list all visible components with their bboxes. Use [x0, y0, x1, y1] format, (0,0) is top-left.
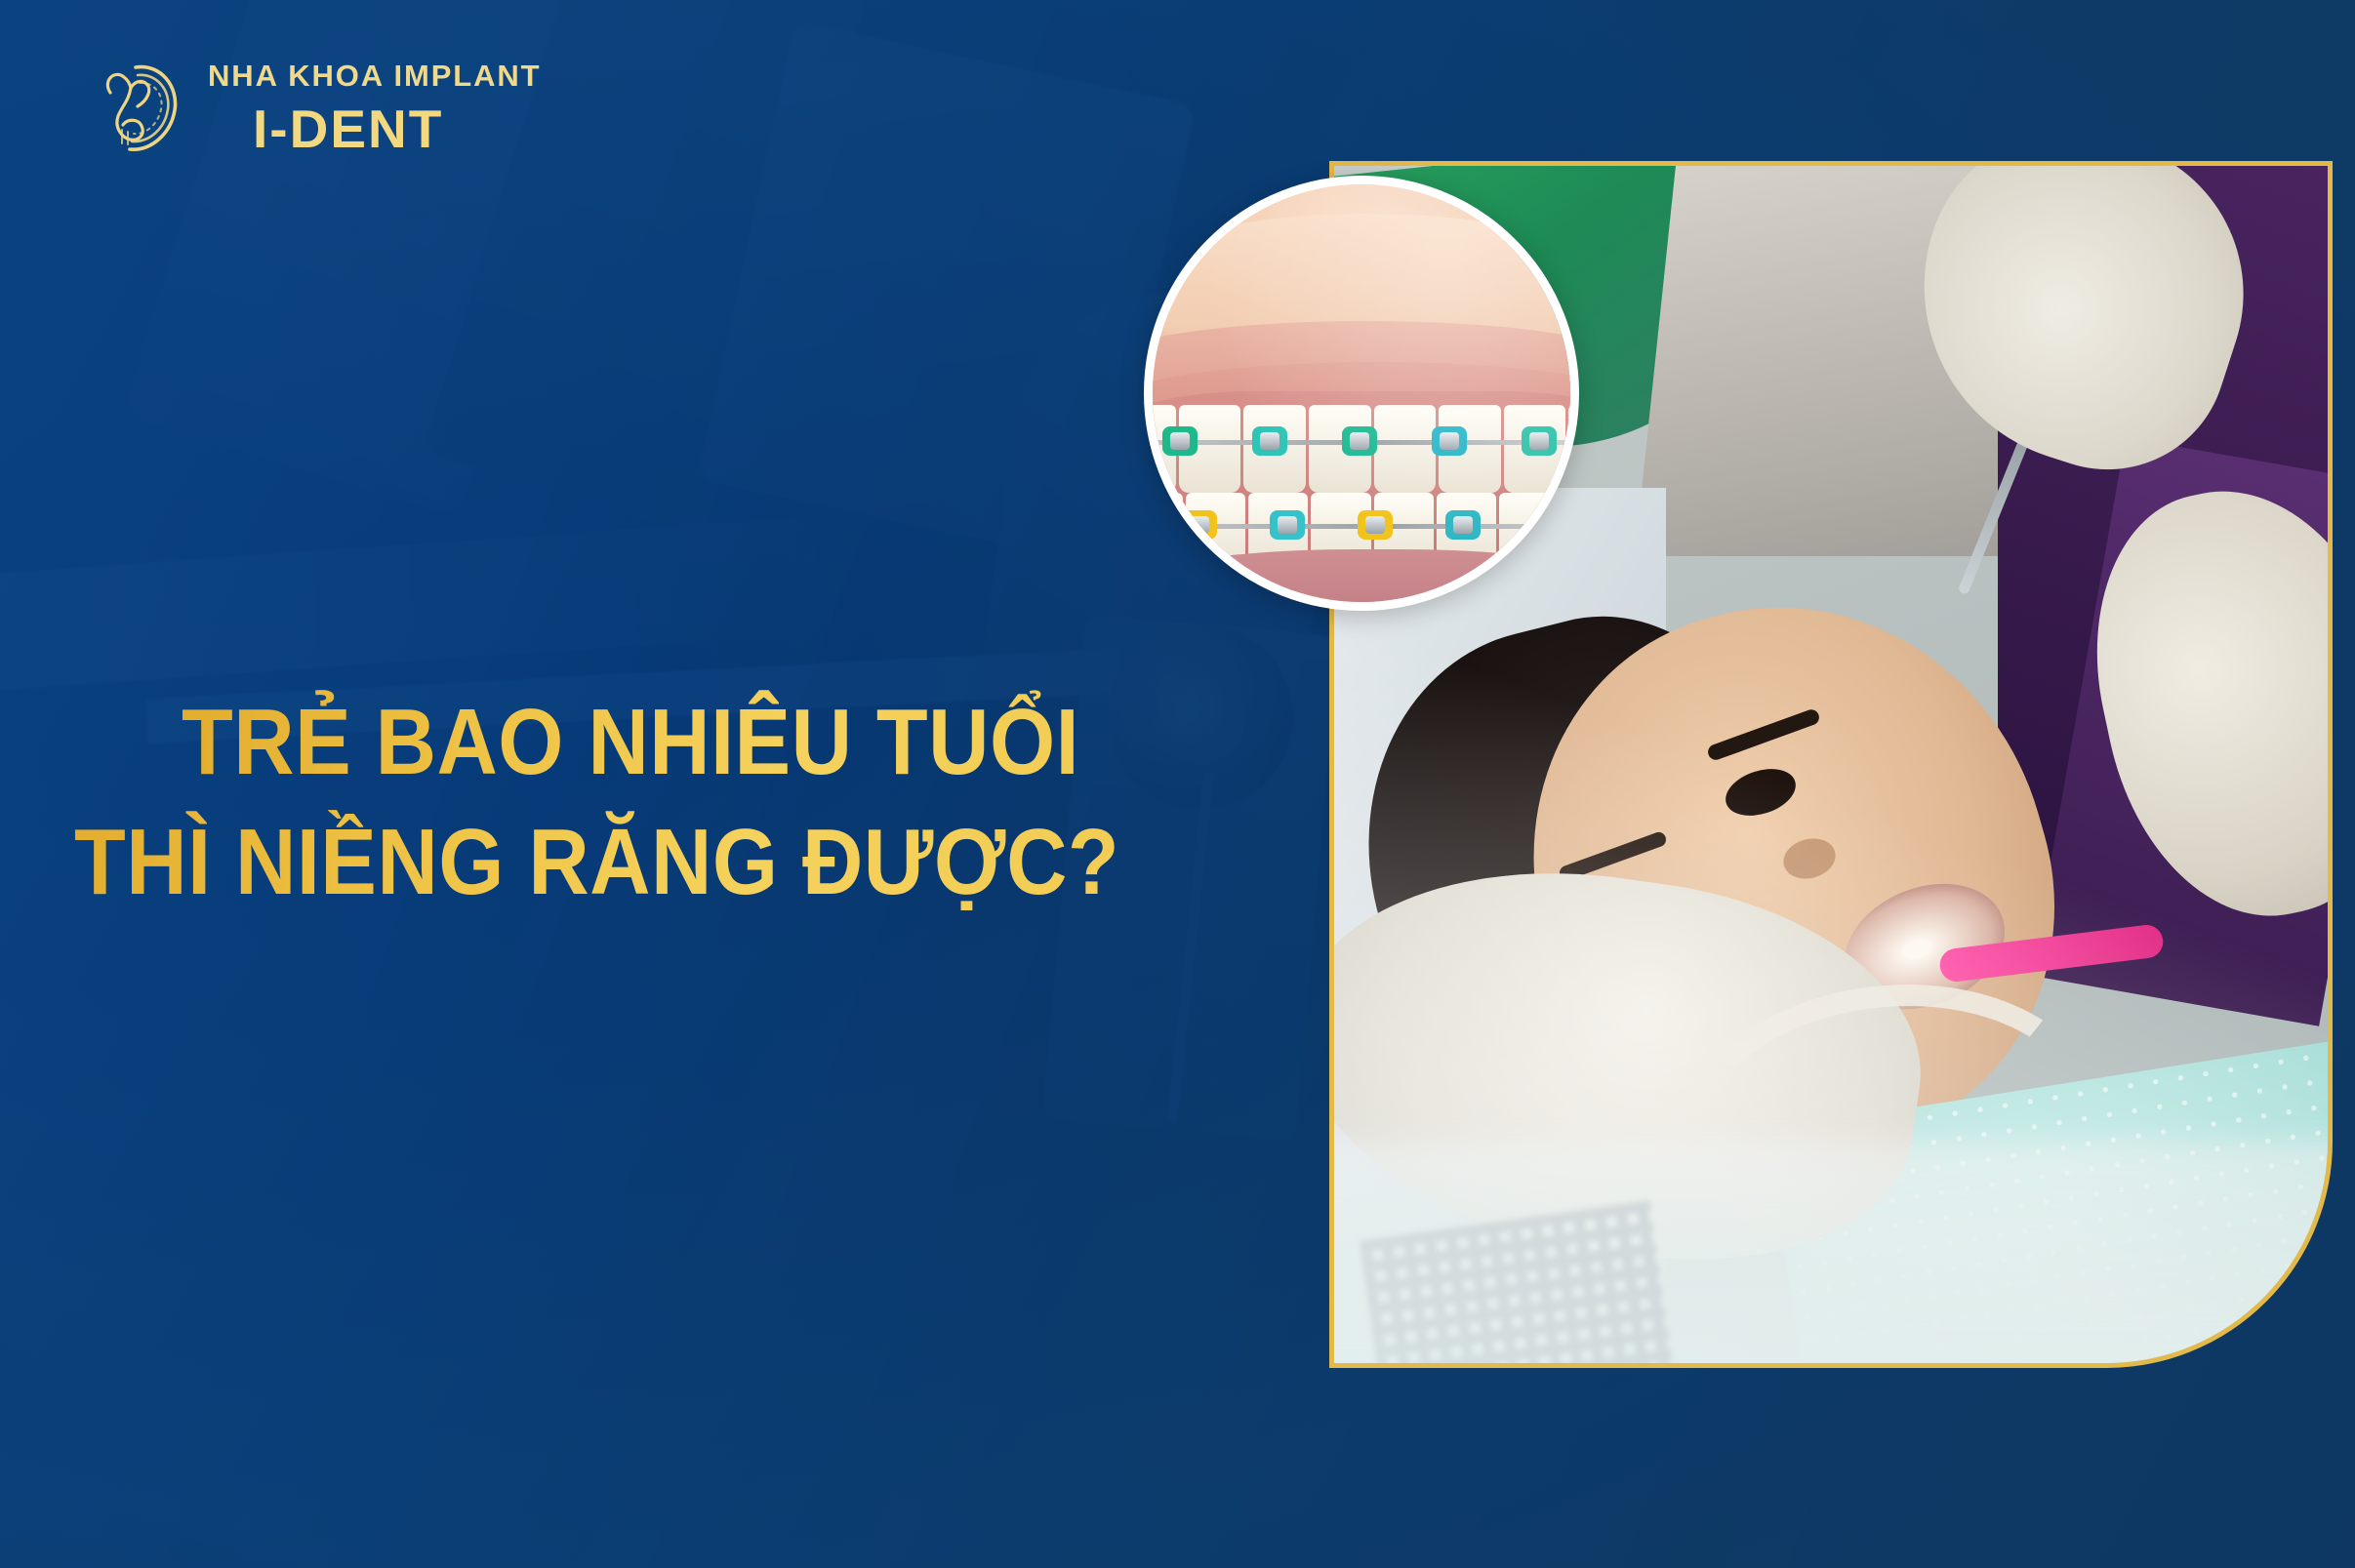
page-title: TRẺ BAO NHIÊU TUỔI THÌ NIỀNG RĂNG ĐƯỢC? — [182, 683, 1236, 923]
brand-name: I-DENT — [253, 102, 542, 156]
brand-tagline: NHA KHOA IMPLANT — [208, 60, 542, 91]
braces-closeup-photo — [1144, 176, 1579, 611]
banner-canvas: NHA KHOA IMPLANT I-DENT TRẺ BAO NHIÊU TU… — [0, 0, 2355, 1568]
headline-line-1: TRẺ BAO NHIÊU TUỔI — [182, 683, 1130, 803]
headline-line-2: THÌ NIỀNG RĂNG ĐƯỢC? — [74, 803, 1119, 923]
brand-logo[interactable]: NHA KHOA IMPLANT I-DENT — [93, 54, 542, 163]
tooth-swirl-logo-icon — [93, 54, 186, 163]
